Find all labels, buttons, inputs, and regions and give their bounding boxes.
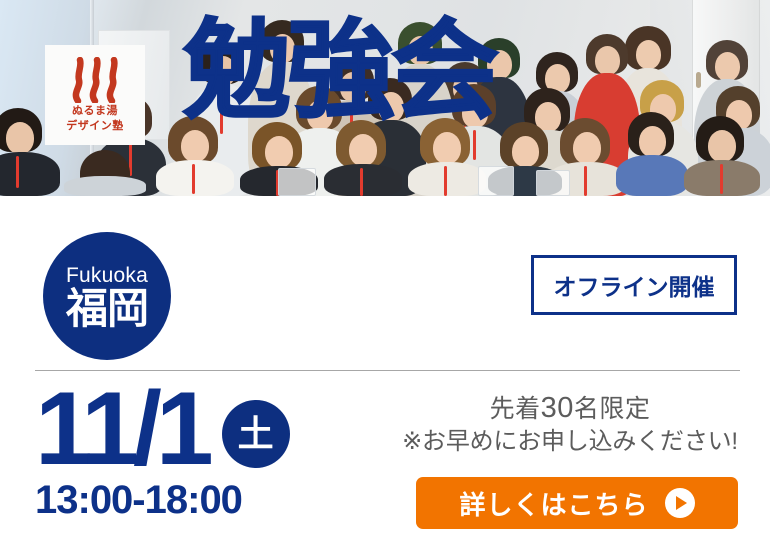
details-cta-button[interactable]: 詳しくはこちら <box>416 477 738 529</box>
fukuoka-badge: Fukuoka 福岡 <box>43 232 171 360</box>
event-date-row: 11/1 土 <box>35 382 290 478</box>
fukuoka-badge-en: Fukuoka <box>66 265 148 286</box>
person-body <box>408 162 486 196</box>
brand-logo: ぬるま湯 デザイン塾 <box>45 45 145 145</box>
capacity-prefix: 先着 <box>490 395 541 423</box>
lanyard <box>473 130 476 160</box>
fukuoka-badge-jp: 福岡 <box>66 288 148 331</box>
offline-badge: オフライン開催 <box>531 255 737 315</box>
person-face <box>512 136 539 167</box>
day-of-week-badge: 土 <box>222 400 290 468</box>
capacity-number: 30 <box>541 392 574 424</box>
person-face <box>639 126 666 157</box>
capacity-note: ※お早めにお申し込みください! <box>400 427 740 457</box>
page-title: 勉強会 <box>183 17 495 125</box>
person-body <box>324 164 402 196</box>
lanyard <box>584 166 587 196</box>
person-face <box>715 52 740 81</box>
play-arrow-icon <box>665 488 695 518</box>
logo-text-line1: ぬるま湯 <box>72 105 118 118</box>
person-face <box>6 122 34 154</box>
held-gift-bag <box>478 166 514 196</box>
event-date-block: 11/1 土 13:00-18:00 <box>35 382 290 520</box>
person-face <box>181 130 209 162</box>
event-date: 11/1 <box>35 382 208 478</box>
day-of-week-label: 土 <box>238 416 274 452</box>
lanyard <box>720 164 723 194</box>
capacity-info: 先着30名限定 ※お早めにお申し込みください! <box>400 392 740 457</box>
offline-badge-label: オフライン開催 <box>554 268 715 302</box>
capacity-line: 先着30名限定 <box>400 392 740 425</box>
person-body <box>616 155 688 196</box>
person-face <box>433 132 461 164</box>
event-banner: ぬるま湯 デザイン塾 Fukuoka 福岡 勉強会 オフライン開催 11/1 土… <box>0 0 770 560</box>
lanyard <box>360 168 363 196</box>
person-face <box>349 134 377 166</box>
logo-text-line2: デザイン塾 <box>66 120 124 133</box>
person-body <box>156 160 234 196</box>
lanyard <box>16 156 19 188</box>
person-face <box>636 40 661 69</box>
person-face <box>708 130 736 162</box>
person-face <box>595 46 620 75</box>
person-face <box>265 136 293 168</box>
lanyard <box>444 166 447 196</box>
held-bouquet <box>278 168 316 196</box>
held-gift-bag <box>536 170 570 196</box>
capacity-suffix: 名限定 <box>574 395 651 423</box>
steam-waves-icon <box>67 57 123 103</box>
person-body <box>0 152 60 196</box>
person-face <box>573 132 601 164</box>
details-cta-label: 詳しくはこちら <box>459 485 648 522</box>
lanyard <box>192 164 195 194</box>
person-body <box>64 176 146 196</box>
